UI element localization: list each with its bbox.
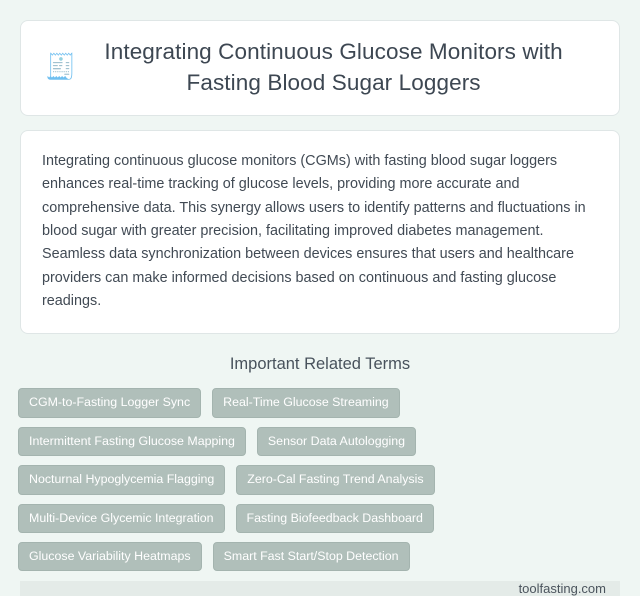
related-term-tag[interactable]: Fasting Biofeedback Dashboard [236, 504, 434, 533]
summary-text: Integrating continuous glucose monitors … [42, 150, 598, 313]
related-term-tag[interactable]: Smart Fast Start/Stop Detection [213, 542, 410, 571]
related-term-tag[interactable]: CGM-to-Fasting Logger Sync [18, 388, 201, 417]
footer-domain-label: toolfasting.com [519, 581, 606, 596]
related-term-tag[interactable]: Real-Time Glucose Streaming [212, 388, 400, 417]
page-root: 🧾 Integrating Continuous Glucose Monitor… [0, 0, 640, 562]
related-term-tag[interactable]: Glucose Variability Heatmaps [18, 542, 202, 571]
summary-card: Integrating continuous glucose monitors … [20, 130, 620, 334]
related-term-tag[interactable]: Intermittent Fasting Glucose Mapping [18, 427, 246, 456]
layout-spacer [0, 571, 640, 581]
related-terms-list: CGM-to-Fasting Logger SyncReal-Time Gluc… [18, 388, 622, 571]
related-terms-section: Important Related Terms CGM-to-Fasting L… [0, 355, 640, 571]
related-term-tag[interactable]: Sensor Data Autologging [257, 427, 416, 456]
header-inner: 🧾 Integrating Continuous Glucose Monitor… [45, 36, 595, 98]
page-title: Integrating Continuous Glucose Monitors … [94, 36, 573, 98]
related-term-tag[interactable]: Multi-Device Glycemic Integration [18, 504, 225, 533]
header-card: 🧾 Integrating Continuous Glucose Monitor… [20, 20, 620, 116]
related-term-tag[interactable]: Nocturnal Hypoglycemia Flagging [18, 465, 225, 494]
related-term-tag[interactable]: Zero-Cal Fasting Trend Analysis [236, 465, 434, 494]
footer-bar: toolfasting.com [20, 581, 620, 596]
receipt-document-icon: 🧾 [45, 55, 76, 80]
related-terms-heading: Important Related Terms [18, 355, 622, 374]
